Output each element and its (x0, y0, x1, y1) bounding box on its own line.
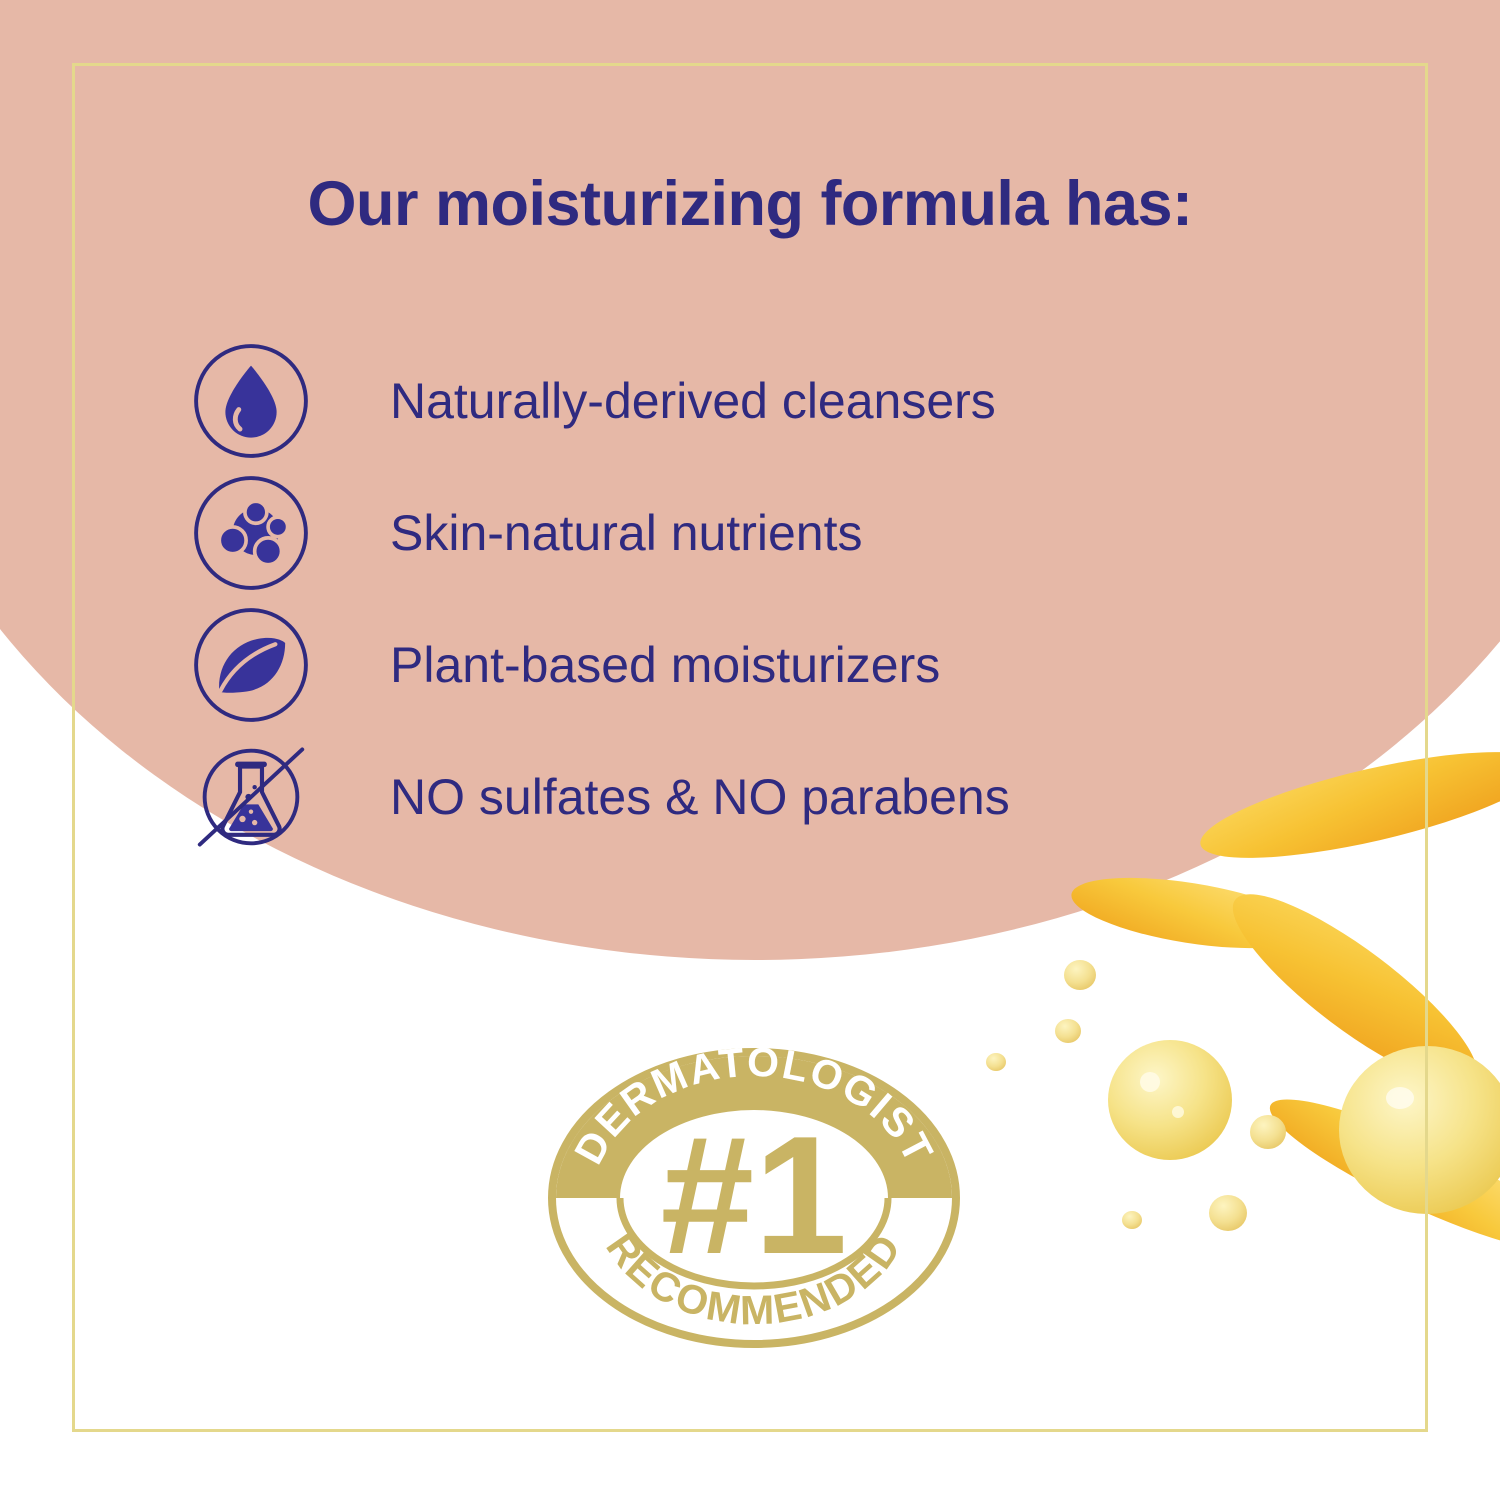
feature-item-cleansers: Naturally-derived cleansers (190, 335, 1250, 467)
feature-label: Skin-natural nutrients (390, 504, 862, 562)
page-title: Our moisturizing formula has: (0, 168, 1500, 240)
water-droplet-icon (190, 340, 312, 462)
oil-droplet-xlarge (1339, 1046, 1500, 1214)
product-claims-banner: Our moisturizing formula has: Naturally-… (0, 0, 1500, 1500)
feature-label: NO sulfates & NO parabens (390, 768, 1010, 826)
feature-label: Naturally-derived cleansers (390, 372, 996, 430)
feature-item-nutrients: Skin-natural nutrients (190, 467, 1250, 599)
petal-diagonal-right (1211, 868, 1499, 1112)
feature-item-no-sulfates: NO sulfates & NO parabens (190, 731, 1250, 863)
molecule-icon (190, 472, 312, 594)
badge-center-text: #1 (661, 1101, 848, 1289)
no-chemicals-flask-icon (190, 736, 312, 858)
feature-item-moisturizers: Plant-based moisturizers (190, 599, 1250, 731)
feature-label: Plant-based moisturizers (390, 636, 940, 694)
status-badge: DERMATOLOGIST RECOMMENDED #1 (548, 1048, 960, 1348)
feature-list: Naturally-derived cleansers Skin-natural… (190, 335, 1250, 863)
oil-droplets-small (986, 960, 1286, 1231)
petal-lower-right (1257, 1076, 1500, 1273)
leaf-icon (190, 604, 312, 726)
oil-droplet-large (1108, 1040, 1232, 1160)
